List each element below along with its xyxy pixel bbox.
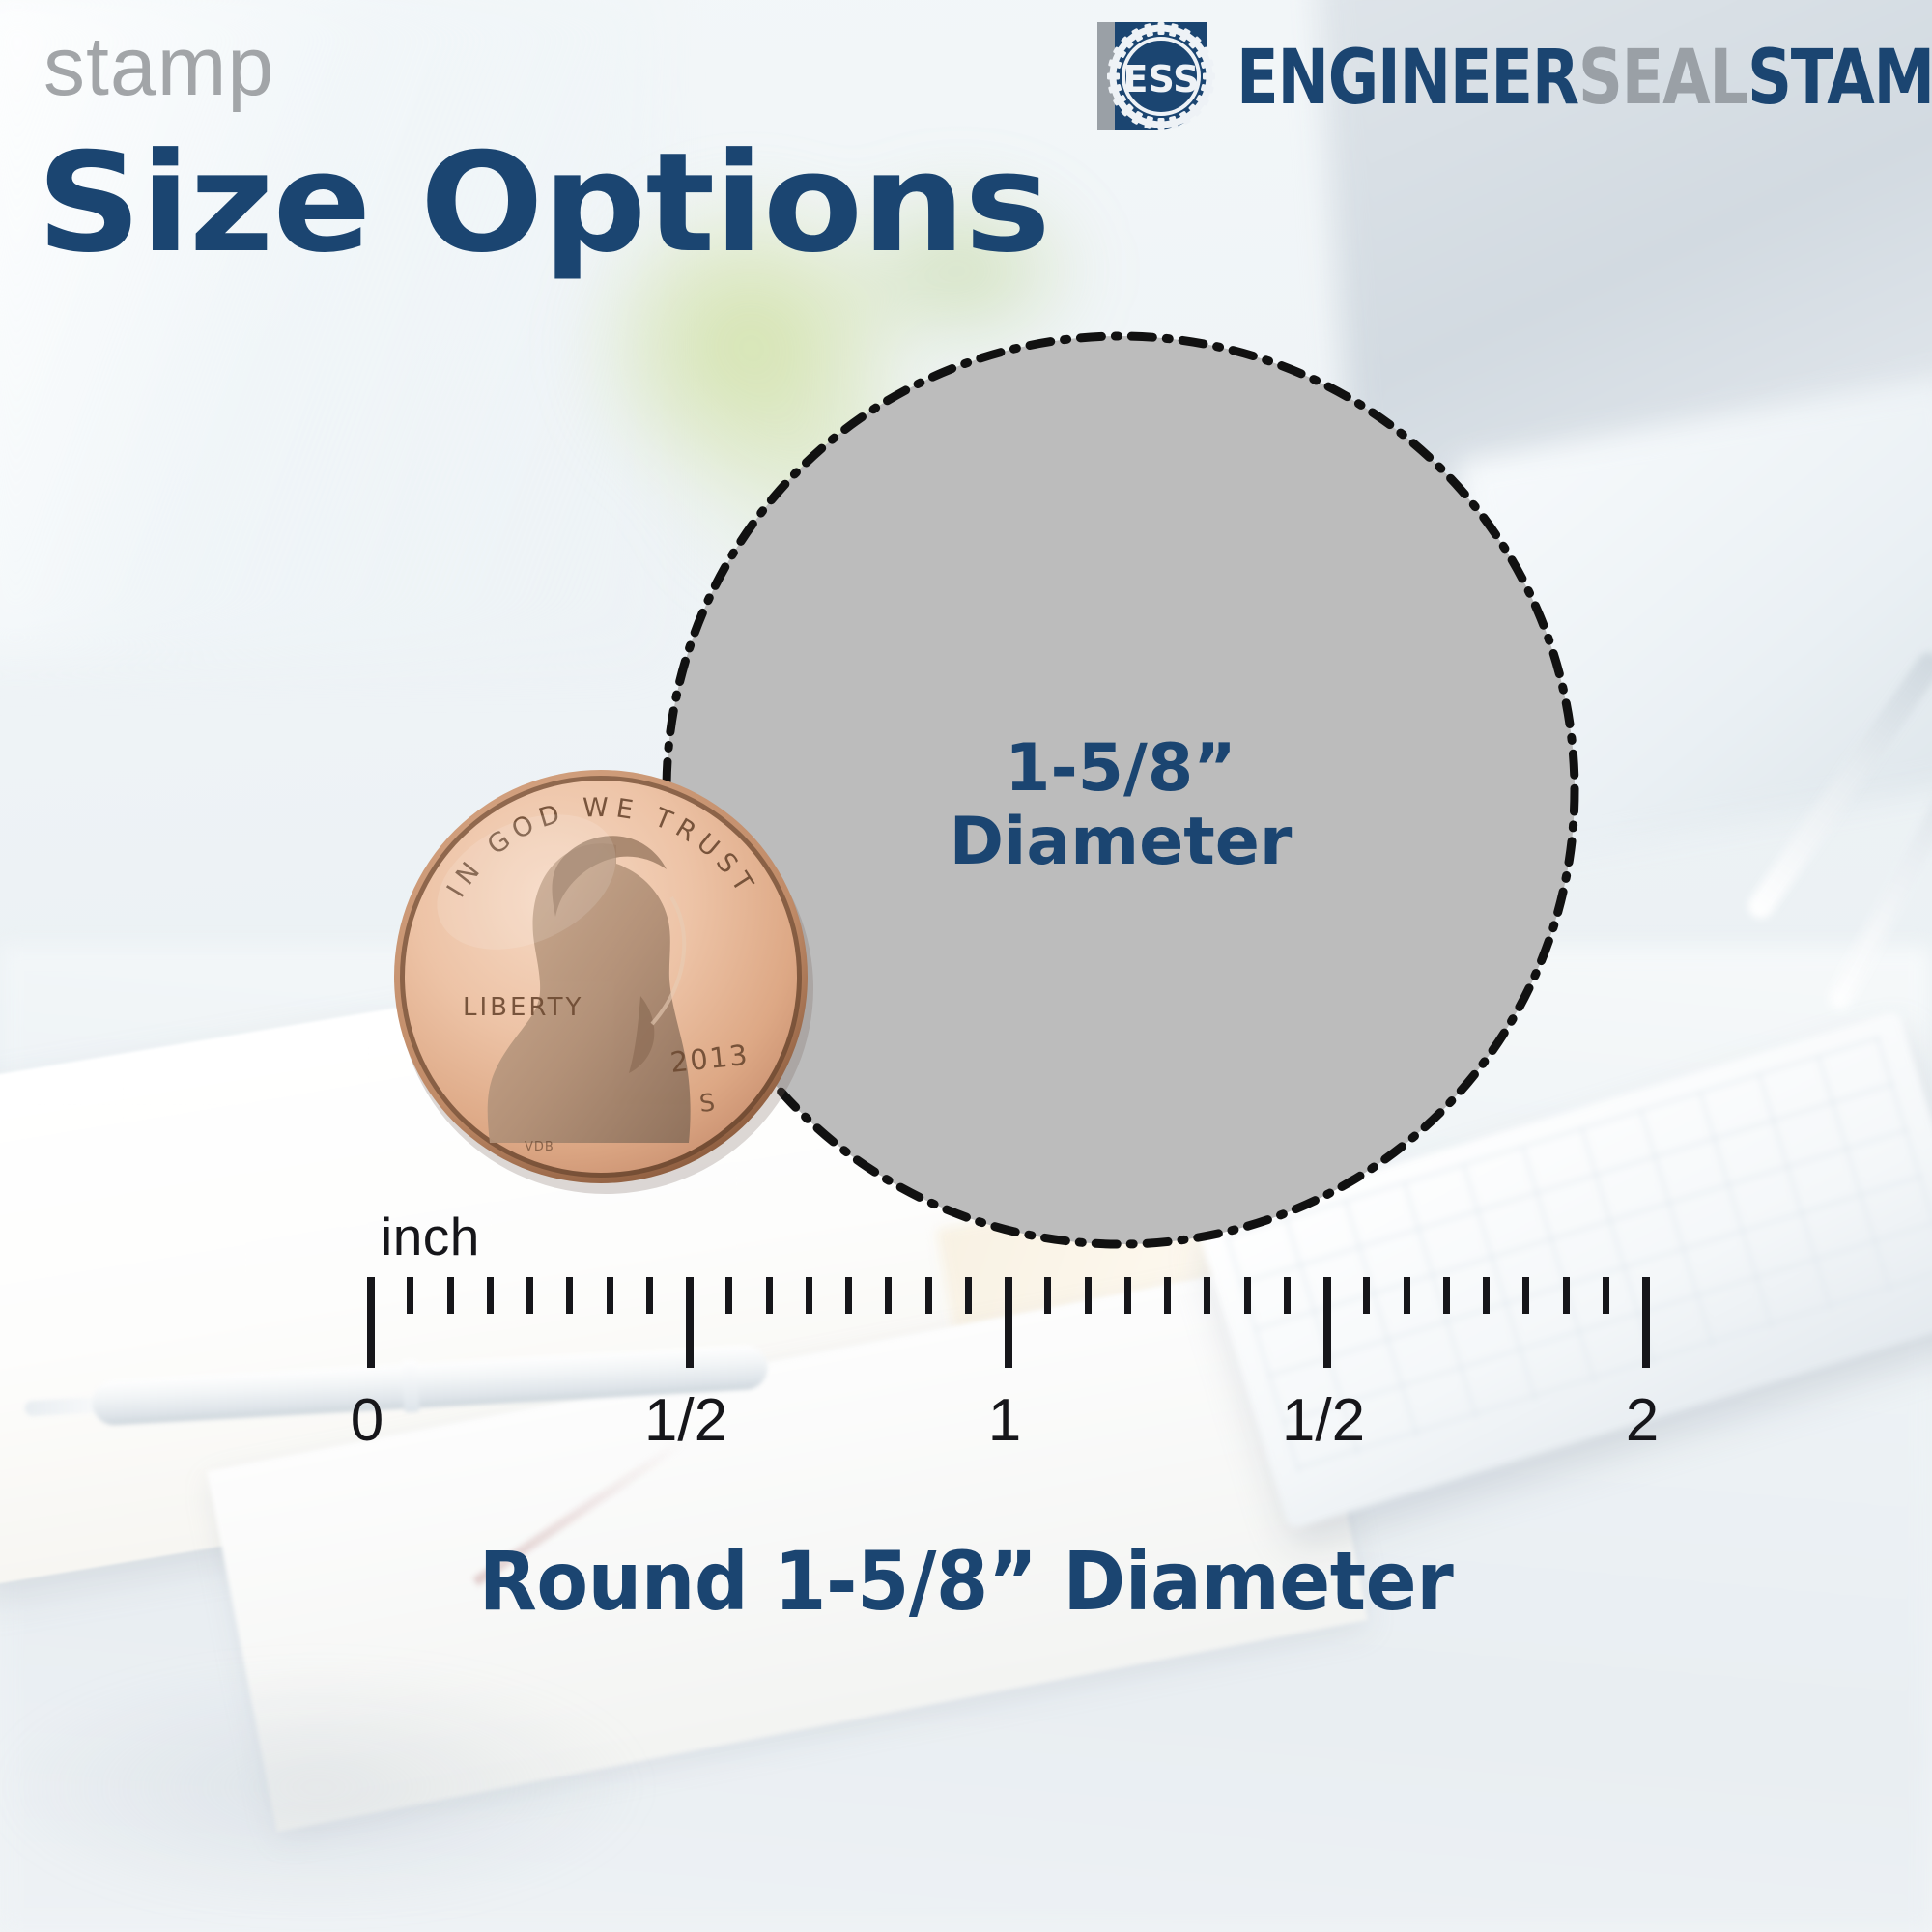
inch-ruler: inch 01/211/22 (367, 1207, 1642, 1497)
size-caption: Round 1-5/8” Diameter (68, 1541, 1864, 1622)
ruler-minor-tick (766, 1277, 773, 1314)
ruler-minor-tick (1404, 1277, 1410, 1314)
ruler-major-tick (1642, 1277, 1650, 1368)
brand-wordmark: ENGINEERSEALSTAMPS (1236, 41, 1932, 116)
ruler-minor-tick (487, 1277, 494, 1314)
ruler-major-tick (1323, 1277, 1331, 1368)
ruler-label-1: 1/2 (644, 1391, 727, 1451)
ruler-minor-tick (447, 1277, 454, 1314)
ruler-minor-tick (1164, 1277, 1171, 1314)
ruler-minor-tick (526, 1277, 533, 1314)
ruler-minor-tick (845, 1277, 852, 1314)
ruler-minor-tick (1124, 1277, 1131, 1314)
penny-coin: IN GOD WE TRUST LIBERTY 2013 S VDB (382, 756, 821, 1196)
svg-text:LIBERTY: LIBERTY (463, 993, 583, 1022)
ruler-minor-tick (407, 1277, 413, 1314)
ruler-minor-tick (806, 1277, 812, 1314)
ruler-label-4: 2 (1626, 1391, 1659, 1451)
ruler-minor-tick (646, 1277, 653, 1314)
ruler-minor-tick (1363, 1277, 1370, 1314)
brand-logo[interactable]: ESS ENGINEERSEALSTAMPS .COM (1092, 15, 1932, 141)
ruler-minor-tick (965, 1277, 972, 1314)
ruler-minor-tick (566, 1277, 573, 1314)
size-options-graphic: stamp Size Options (0, 0, 1932, 1932)
ess-shield-gear-icon: ESS (1092, 16, 1233, 140)
ruler-label-0: 0 (351, 1391, 384, 1451)
ruler-label-2: 1 (988, 1391, 1021, 1451)
size-circle-label: 1-5/8” Diameter (950, 732, 1293, 879)
size-dimension: 1-5/8” (950, 732, 1293, 806)
ruler-minor-tick (1085, 1277, 1092, 1314)
ruler-tick-marks (367, 1277, 1642, 1393)
ruler-minor-tick (885, 1277, 892, 1314)
ruler-minor-tick (607, 1277, 613, 1314)
ruler-minor-tick (1563, 1277, 1570, 1314)
size-dimension-unit: Diameter (950, 806, 1293, 879)
ruler-major-tick (686, 1277, 694, 1368)
ruler-minor-tick (1284, 1277, 1291, 1314)
brand-word-seal: SEAL (1578, 41, 1747, 116)
ruler-major-tick (367, 1277, 375, 1368)
brand-word-engineer: ENGINEER (1236, 41, 1578, 116)
ruler-minor-tick (1522, 1277, 1529, 1314)
ruler-minor-tick (1483, 1277, 1490, 1314)
ruler-minor-tick (1204, 1277, 1210, 1314)
ruler-minor-tick (725, 1277, 732, 1314)
ruler-minor-tick (1603, 1277, 1609, 1314)
svg-text:S: S (698, 1088, 717, 1118)
svg-text:VDB: VDB (525, 1140, 554, 1154)
ruler-minor-tick (1244, 1277, 1251, 1314)
ruler-number-labels: 01/211/22 (367, 1391, 1642, 1478)
ruler-minor-tick (1044, 1277, 1051, 1314)
ruler-minor-tick (925, 1277, 932, 1314)
eyebrow-label: stamp (43, 25, 274, 108)
brand-word-stamps: STAMPS (1747, 41, 1932, 116)
svg-text:ESS: ESS (1123, 58, 1200, 100)
ruler-major-tick (1005, 1277, 1012, 1368)
ruler-minor-tick (1443, 1277, 1450, 1314)
ruler-label-3: 1/2 (1282, 1391, 1365, 1451)
page-title: Size Options (37, 135, 1050, 272)
ruler-unit-label: inch (381, 1206, 480, 1267)
background-shadow (0, 1623, 753, 1932)
